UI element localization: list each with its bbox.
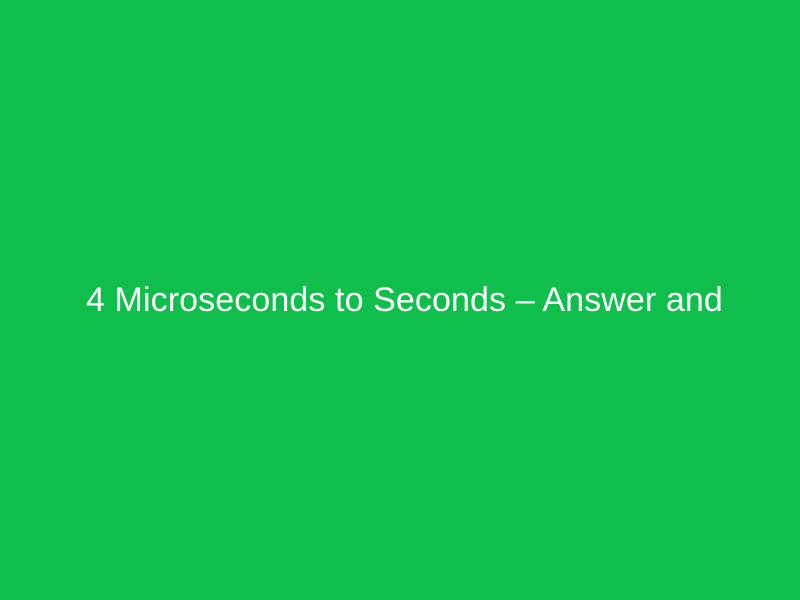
share-card: 4 Microseconds to Seconds – Answer and <box>0 0 800 600</box>
card-title: 4 Microseconds to Seconds – Answer and <box>0 278 800 322</box>
